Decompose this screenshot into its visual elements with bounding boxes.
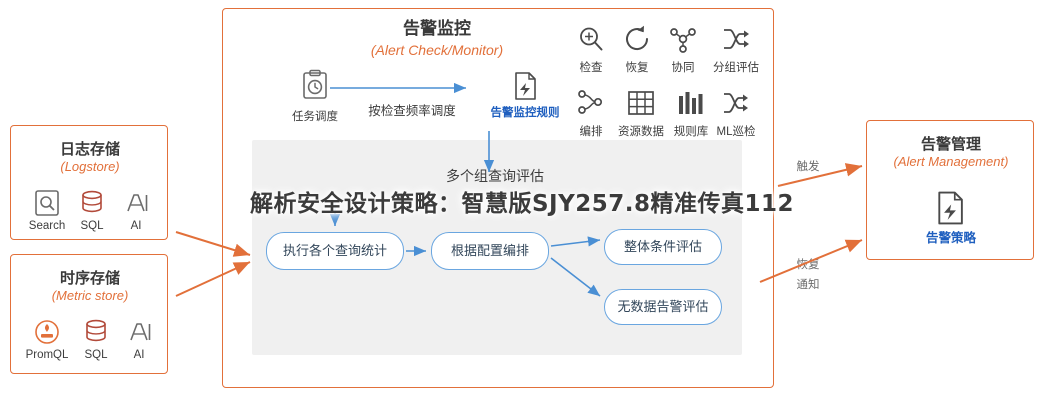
- arrow-recover-to-management: [760, 240, 862, 282]
- arrow-trigger-to-management: [778, 166, 862, 186]
- connector-layer: [0, 0, 1044, 400]
- diagram-canvas: 日志存储 (Logstore) Search SQL: [0, 0, 1044, 400]
- arrow-config-to-overall: [551, 240, 600, 246]
- arrow-config-to-nodata: [551, 258, 600, 296]
- arrow-metricstore-to-center: [176, 262, 250, 296]
- arrow-logstore-to-center: [176, 232, 250, 255]
